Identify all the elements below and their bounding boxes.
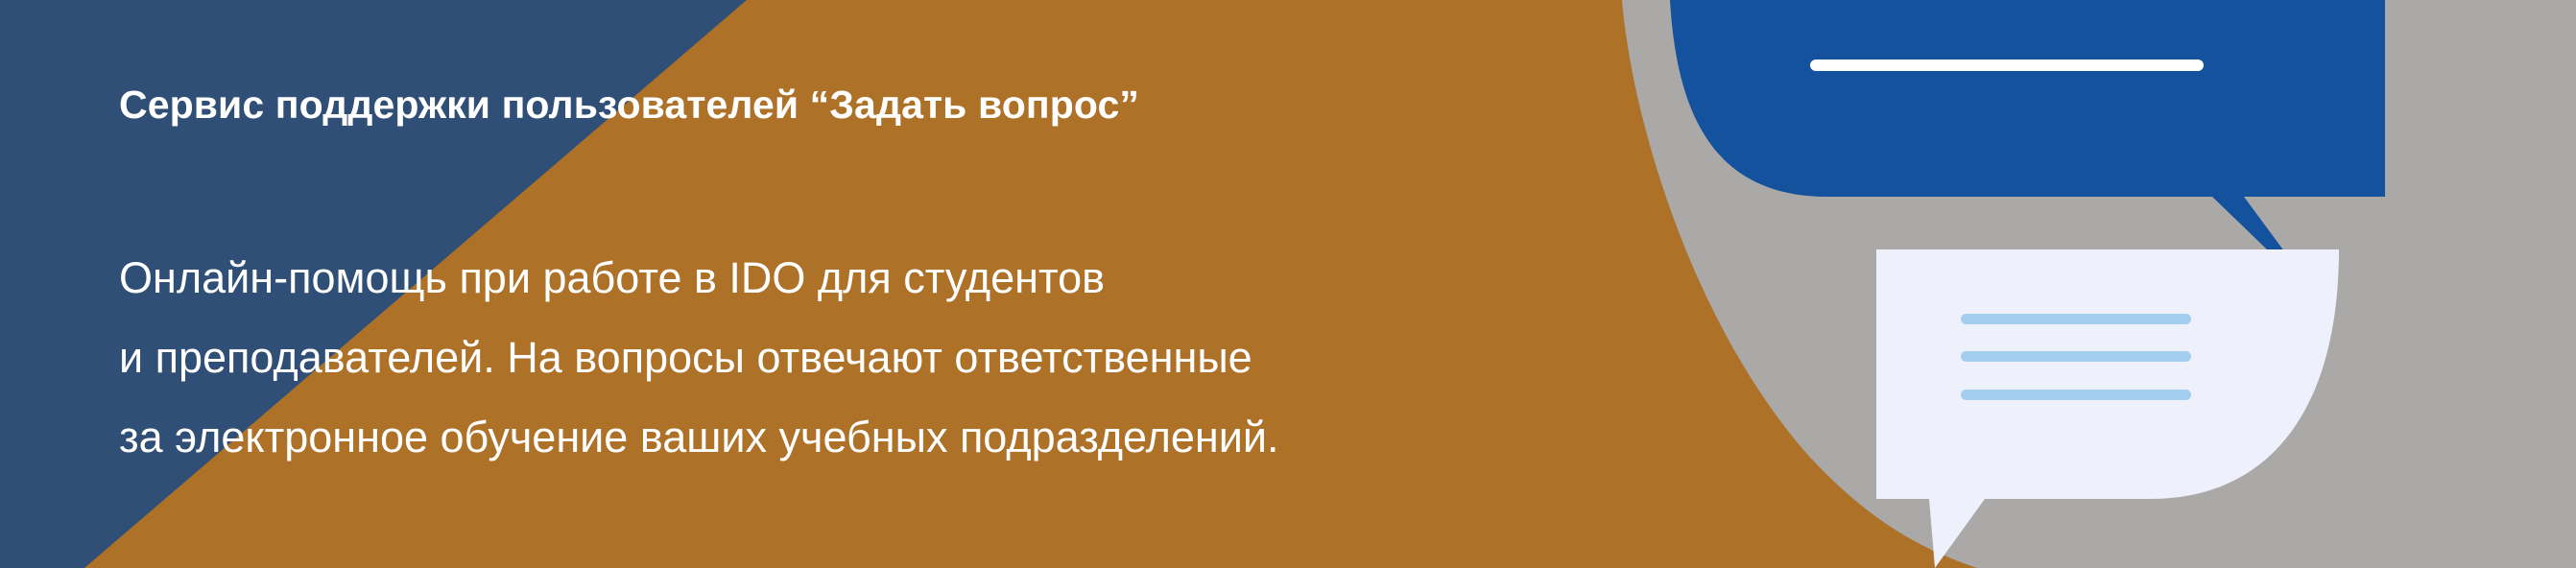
promo-banner: Сервис поддержки пользователей “Задать в… [0, 0, 2576, 568]
banner-body-line-1: Онлайн-помощь при работе в IDO для студе… [119, 238, 1279, 318]
banner-title: Сервис поддержки пользователей “Задать в… [119, 83, 1139, 128]
banner-text-layer: Сервис поддержки пользователей “Задать в… [0, 0, 2576, 568]
banner-body-text: Онлайн-помощь при работе в IDO для студе… [119, 238, 1279, 477]
banner-body-line-3: за электронное обучение ваших учебных по… [119, 397, 1279, 477]
banner-body-line-2: и преподавателей. На вопросы отвечают от… [119, 318, 1279, 397]
